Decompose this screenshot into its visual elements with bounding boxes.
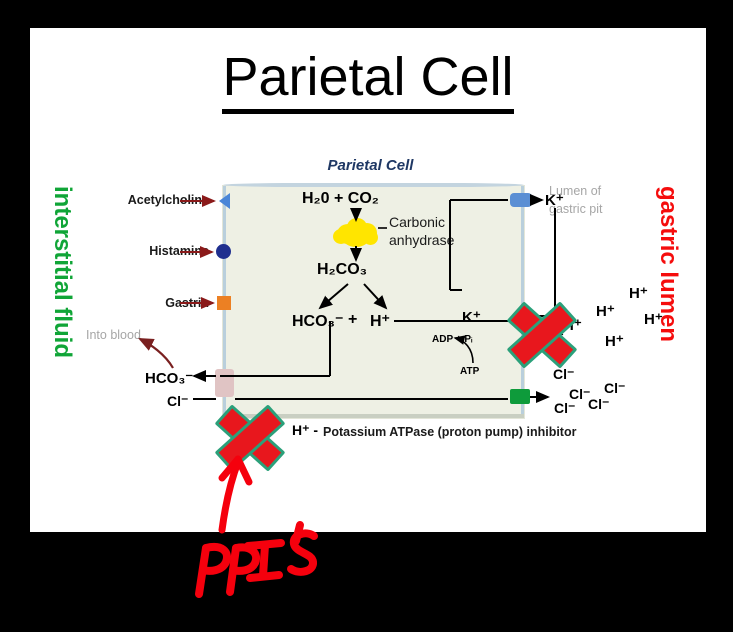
ligand-label-acetylcholine: Acetylcholine	[84, 193, 209, 207]
histamine-receptor	[216, 244, 231, 259]
anion-exchanger	[215, 369, 234, 397]
reaction-plus: +	[348, 311, 357, 329]
reaction-intermediate: H₂CO₃	[317, 261, 367, 279]
proton-product: H⁺	[370, 311, 390, 331]
carbonic-anhydrase-blob	[333, 218, 379, 248]
lumen-chloride: Cl⁻	[554, 400, 575, 417]
lumen-chloride: Cl⁻	[588, 396, 609, 413]
chloride-channel	[510, 389, 530, 404]
apical-membrane	[223, 183, 524, 187]
atp-label: ATP	[460, 366, 479, 377]
gastrin-receptor	[217, 296, 231, 310]
cell-label: Parietal Cell	[223, 157, 518, 174]
parietal-cell-diagram: Parietal Cell Lumen of gastric pit Into …	[30, 28, 706, 532]
gastric-lumen-label: gastric lumen	[654, 186, 682, 342]
acetylcholine-receptor	[219, 193, 230, 209]
lumen-proton: H⁺	[596, 302, 615, 320]
ligand-label-histamine: Histamine	[84, 244, 209, 258]
potassium-channel	[510, 193, 532, 207]
ligand-label-gastrin: Gastrin	[84, 296, 209, 310]
enzyme-label-line2: anhydrase	[389, 232, 454, 248]
adp-label: ADP + Pᵢ	[432, 334, 472, 345]
lumen-proton: H⁺	[605, 332, 624, 350]
chloride-in-label: Cl⁻	[167, 393, 188, 410]
into-blood-label: Into blood	[86, 328, 141, 342]
potassium-pump-label: K⁺	[462, 308, 481, 326]
bicarbonate-out-label: HCO₃⁻	[145, 369, 193, 387]
lumen-chloride: Cl⁻	[553, 366, 574, 383]
pump-block-x-apical	[499, 300, 579, 364]
potassium-lumen-label: K⁺	[545, 191, 564, 209]
lumen-chloride: Cl⁻	[604, 380, 625, 397]
lumen-proton: H⁺	[629, 284, 648, 302]
pump-block-x-basal	[207, 403, 287, 467]
enzyme-label-line1: Carbonic	[389, 214, 445, 230]
interstitial-fluid-label: interstitial fluid	[48, 186, 76, 358]
slide-card: Parietal Cell Parietal Cell Lumen of gas…	[30, 28, 706, 532]
reaction-substrates: H₂0 + CO₂	[302, 190, 379, 208]
caption-text: Potassium ATPase (proton pump) inhibitor	[323, 425, 576, 439]
caption-prefix: H⁺ -	[292, 422, 318, 439]
bicarbonate-product: HCO₃⁻	[292, 311, 343, 331]
